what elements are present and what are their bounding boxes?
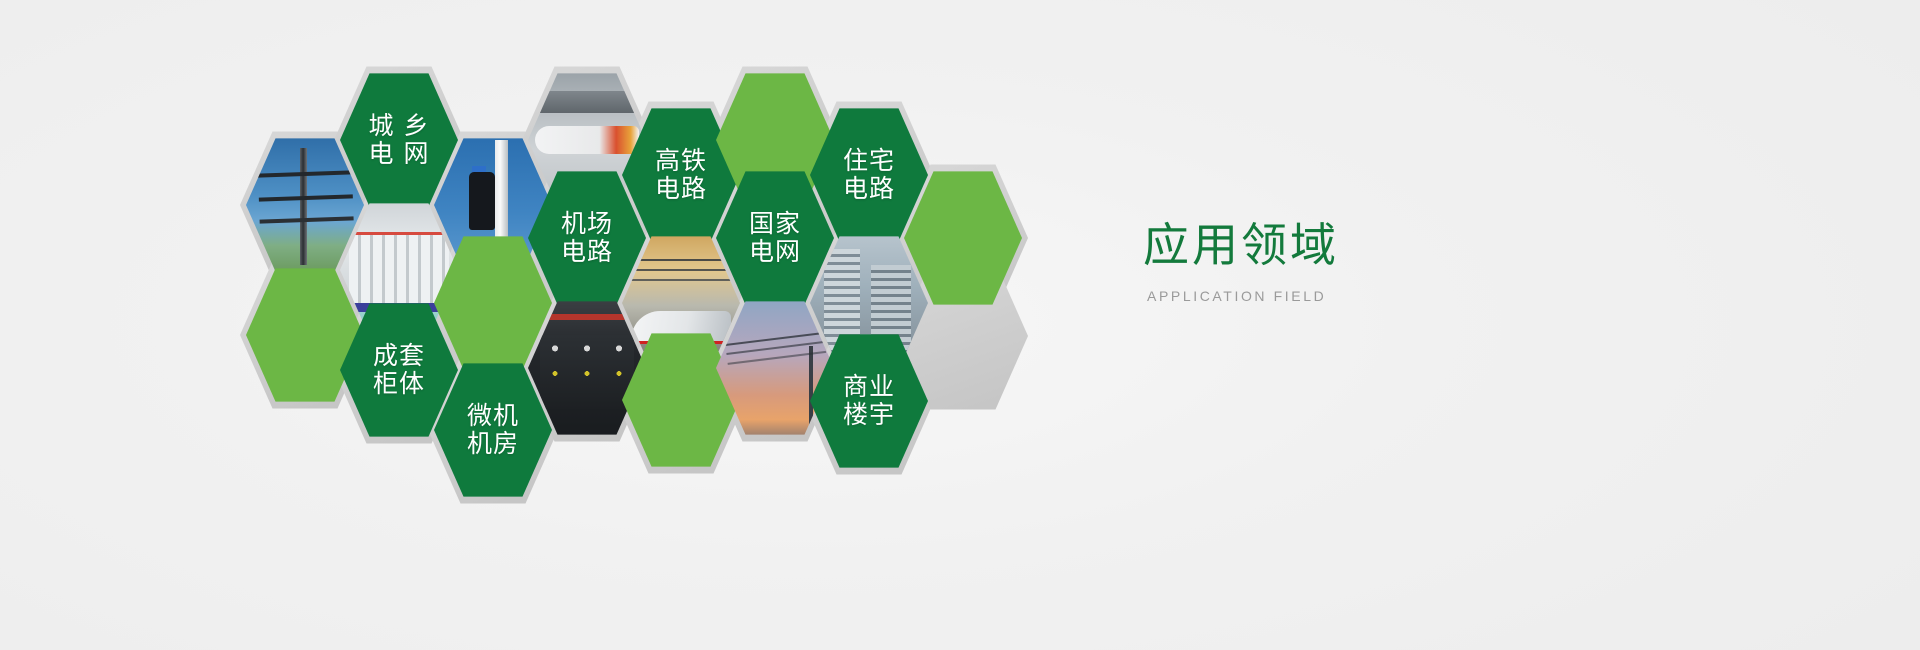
hex-label: 商业 楼宇 <box>843 373 895 429</box>
hex-label: 微机 机房 <box>467 402 519 458</box>
page-title: 应用领域 <box>1143 222 1339 268</box>
application-field-banner: 城 乡 电 网 成套 柜体 微机 机房 机场 电路 高铁 电路 <box>0 0 1920 650</box>
hex-label: 住宅 电路 <box>843 147 895 203</box>
hex-label: 国家 电网 <box>749 210 801 266</box>
hex-label: 城 乡 电 网 <box>369 112 430 168</box>
hex-label: 高铁 电路 <box>655 147 707 203</box>
page-subtitle: APPLICATION FIELD <box>1147 288 1339 304</box>
heading-block: 应用领域 APPLICATION FIELD <box>1143 222 1339 304</box>
hexagon-mosaic: 城 乡 电 网 成套 柜体 微机 机房 机场 电路 高铁 电路 <box>0 0 1920 650</box>
hex-label: 机场 电路 <box>561 210 613 266</box>
hex-label: 成套 柜体 <box>373 342 425 398</box>
